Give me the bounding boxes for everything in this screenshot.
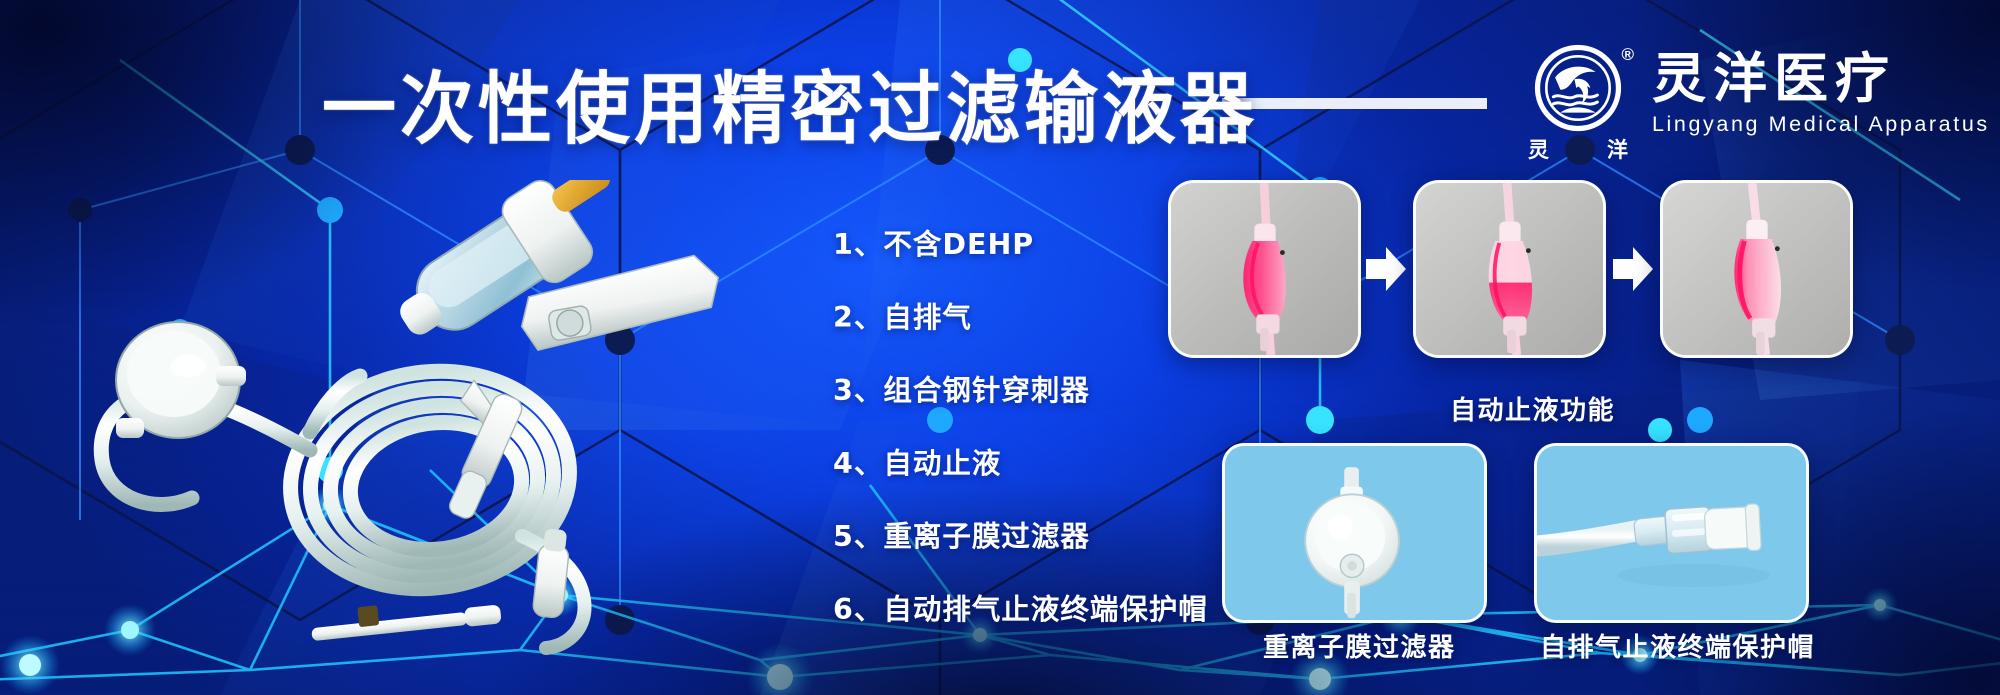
brand-name-en: Lingyang Medical Apparatus [1652, 112, 1990, 137]
caption-heavy-ion-filter: 重离子膜过滤器 [1263, 627, 1456, 664]
feature-item-3: 3、组合钢针穿刺器 [833, 368, 1253, 409]
caption-terminal-protective-cap: 自排气止液终端保护帽 [1540, 627, 1815, 664]
infusion-set-product-photo [60, 180, 760, 660]
brand-name-cn: 灵洋医疗 [1652, 50, 1990, 107]
emblem-sub-right: 洋 [1607, 134, 1628, 164]
photo-terminal-protective-cap [1534, 443, 1809, 623]
feature-item-5: 5、重离子膜过滤器 [833, 514, 1253, 555]
registered-trademark-icon: ® [1621, 46, 1634, 63]
emblem-sub-left: 灵 [1528, 134, 1549, 164]
brand-text: 灵洋医疗 Lingyang Medical Apparatus [1652, 44, 1990, 137]
logo-emblem-wrap: ® 灵 洋 [1524, 44, 1632, 164]
needle-adaptor [310, 592, 502, 643]
arrow-right-icon-1 [1364, 243, 1408, 295]
caption-auto-stop-function: 自动止液功能 [1450, 390, 1615, 427]
photo-auto-stop-step-3 [1660, 180, 1853, 358]
brand-logo: ® 灵 洋 灵洋医疗 Lingyang Medical Apparatus [1524, 44, 1990, 164]
page-title: 一次性使用精密过滤输液器 [322, 46, 1258, 159]
photo-auto-stop-step-2 [1413, 180, 1606, 358]
photo-heavy-ion-filter [1222, 443, 1487, 623]
round-filter-part [116, 322, 246, 438]
logo-emblem: ® [1534, 44, 1622, 132]
photo-auto-stop-step-1 [1168, 180, 1361, 358]
feature-item-4: 4、自动止液 [833, 441, 1253, 482]
feature-item-6: 6、自动排气止液终端保护帽 [833, 587, 1253, 628]
product-banner: 一次性使用精密过滤输液器 ® 灵 洋 [0, 0, 2000, 695]
arrow-right-icon-2 [1611, 243, 1655, 295]
logo-emblem-subtext: 灵 洋 [1524, 134, 1632, 164]
wave-bird-emblem-icon [1534, 44, 1622, 132]
